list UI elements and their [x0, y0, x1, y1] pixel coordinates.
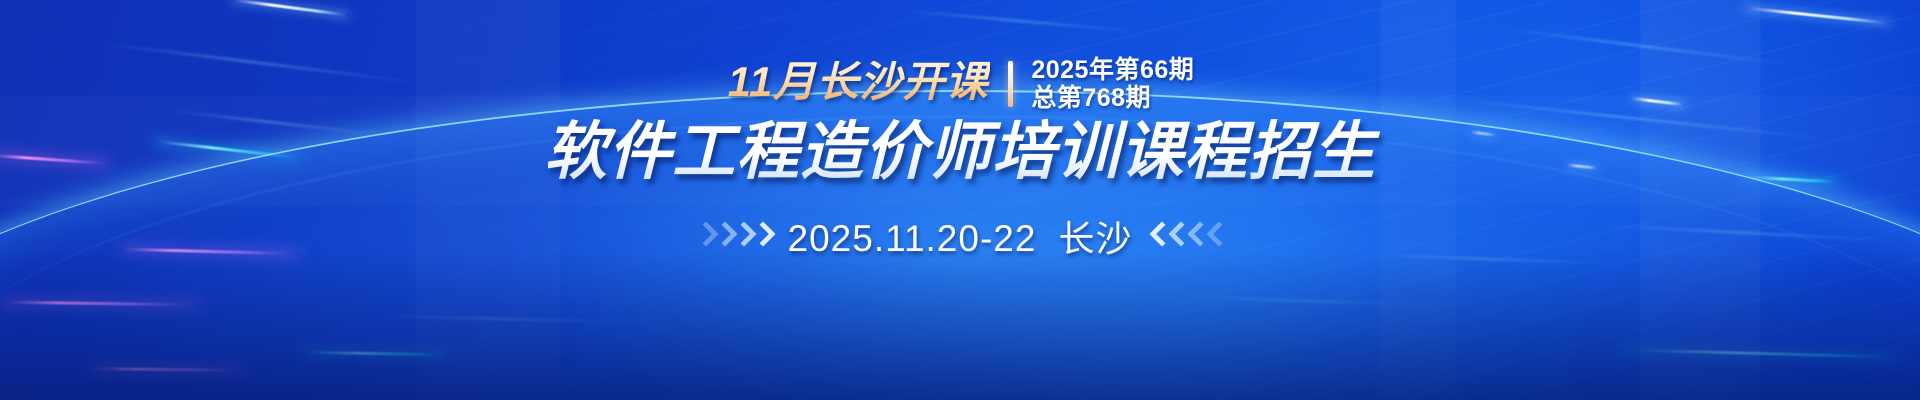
course-promo-banner: 11月长沙开课 2025年第66期 总第768期 软件工程造价师培训课程招生 2…	[0, 0, 1920, 400]
chevron-left-icon	[1169, 221, 1186, 251]
chevron-right-icon	[753, 221, 770, 251]
kicker-text: 11月长沙开课	[726, 61, 991, 107]
date-text: 2025.11.20-22 长沙	[788, 210, 1133, 262]
event-city: 长沙	[1058, 210, 1132, 262]
chevron-left-icon	[1188, 221, 1205, 251]
date-row: 2025.11.20-22 长沙	[696, 210, 1225, 262]
banner-content: 11月长沙开课 2025年第66期 总第768期 软件工程造价师培训课程招生 2…	[0, 0, 1920, 400]
event-date: 2025.11.20-22	[788, 218, 1037, 260]
issue-block: 2025年第66期 总第768期	[1031, 56, 1194, 112]
chevron-right-icon	[715, 221, 732, 251]
chevron-right-icon	[696, 221, 713, 251]
kicker-divider	[1008, 61, 1013, 107]
issue-line-current: 2025年第66期	[1031, 56, 1194, 84]
chevron-left-icon	[1207, 221, 1224, 251]
headline-title: 软件工程造价师培训课程招生	[540, 118, 1380, 194]
chevron-left-icon	[1150, 221, 1167, 251]
issue-line-total: 总第768期	[1031, 84, 1194, 112]
kicker-row: 11月长沙开课 2025年第66期 总第768期	[726, 56, 1195, 112]
chevron-right-group	[696, 221, 770, 251]
chevron-right-icon	[734, 221, 751, 251]
chevron-left-group	[1150, 221, 1224, 251]
